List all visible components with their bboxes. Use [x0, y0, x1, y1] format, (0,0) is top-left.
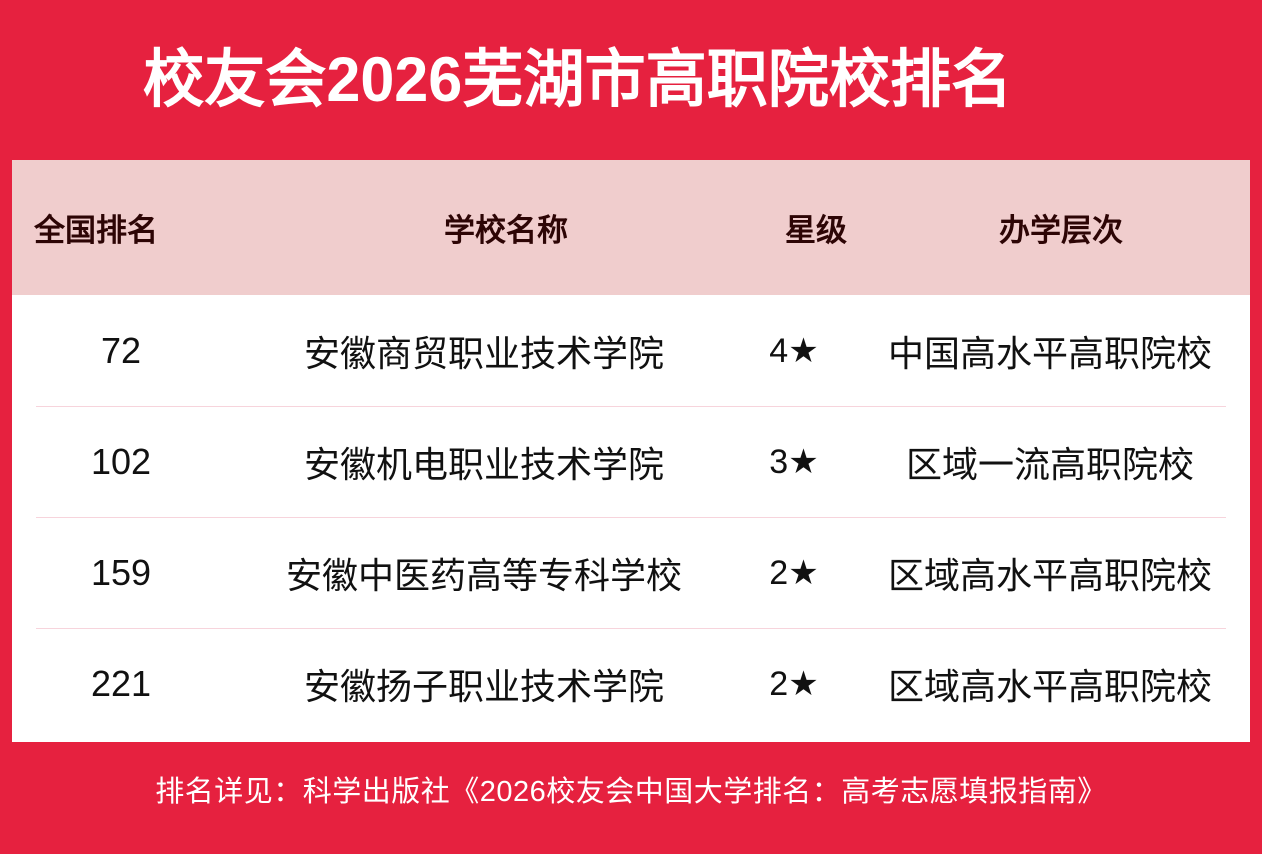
cell-school-level: 区域高水平高职院校	[850, 547, 1250, 599]
footer-banner: 排名详见：科学出版社《2026校友会中国大学排名：高考志愿填报指南》	[0, 742, 1262, 854]
table-row: 72 安徽商贸职业技术学院 4★ 中国高水平高职院校	[12, 295, 1250, 406]
table-row: 102 安徽机电职业技术学院 3★ 区域一流高职院校	[12, 406, 1250, 517]
cell-school-level: 区域一流高职院校	[850, 436, 1250, 488]
column-header-star-rating: 星级	[760, 205, 872, 250]
table-row: 159 安徽中医药高等专科学校 2★ 区域高水平高职院校	[12, 517, 1250, 628]
cell-school-name: 安徽扬子职业技术学院	[230, 658, 738, 710]
column-header-school-name: 学校名称	[252, 205, 760, 250]
cell-school-level: 区域高水平高职院校	[850, 658, 1250, 710]
cell-school-level: 中国高水平高职院校	[850, 325, 1250, 377]
ranking-table: 全国排名 学校名称 星级 办学层次 72 安徽商贸职业技术学院 4★ 中国高水平…	[12, 160, 1250, 742]
cell-star-rating: 3★	[738, 442, 850, 482]
cell-rank: 72	[12, 330, 230, 372]
cell-rank: 221	[12, 663, 230, 705]
cell-school-name: 安徽中医药高等专科学校	[230, 547, 738, 599]
cell-school-name: 安徽商贸职业技术学院	[230, 325, 738, 377]
title-banner: 校友会2026芜湖市高职院校排名	[0, 0, 1262, 160]
cell-star-rating: 2★	[738, 553, 850, 593]
cell-star-rating: 4★	[738, 331, 850, 371]
cell-star-rating: 2★	[738, 664, 850, 704]
cell-rank: 102	[12, 441, 230, 483]
cell-school-name: 安徽机电职业技术学院	[230, 436, 738, 488]
column-header-rank: 全国排名	[12, 205, 252, 250]
table-row: 221 安徽扬子职业技术学院 2★ 区域高水平高职院校	[12, 628, 1250, 739]
footer-source-note: 排名详见：科学出版社《2026校友会中国大学排名：高考志愿填报指南》	[155, 768, 1107, 810]
column-header-school-level: 办学层次	[872, 205, 1250, 250]
table-header-row: 全国排名 学校名称 星级 办学层次	[12, 160, 1250, 295]
ranking-poster: 校友会2026芜湖市高职院校排名 全国排名 学校名称 星级 办学层次 72 安徽…	[0, 0, 1262, 854]
page-title: 校友会2026芜湖市高职院校排名	[143, 49, 1012, 112]
cell-rank: 159	[12, 552, 230, 594]
